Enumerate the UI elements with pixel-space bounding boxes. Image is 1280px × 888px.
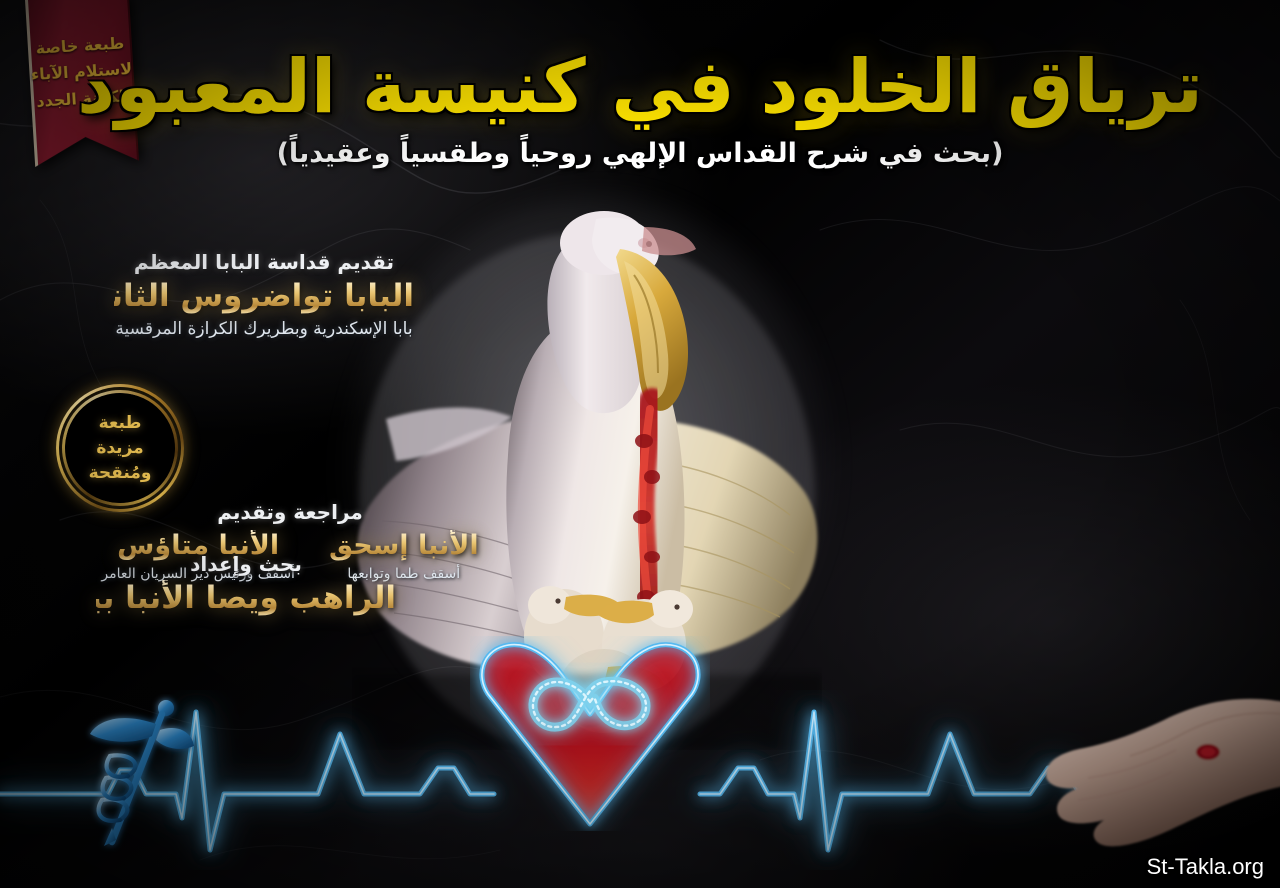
seal-text: طبعة مزيدة ومُنقحة — [56, 384, 184, 512]
title-block: ترياق الخلود في كنيسة المعبود (بحث في شر… — [0, 48, 1280, 169]
open-wounded-hand — [1022, 682, 1280, 862]
caduceus-icon — [82, 694, 198, 854]
page-title: ترياق الخلود في كنيسة المعبود — [0, 48, 1280, 128]
pope-name: البابا تواضروس الثاني — [114, 278, 414, 314]
seal-line-2: مزيدة — [96, 438, 143, 458]
seal-line-3: ومُنقحة — [89, 463, 152, 483]
seal-line-1: طبعة — [99, 413, 142, 433]
page-subtitle: (بحث في شرح القداس الإلهي روحياً وطقسياً… — [0, 138, 1280, 169]
author-name: الراهب ويصا الأنبا بيشوي — [96, 580, 396, 616]
pope-label: تقديم قداسة البابا المعظم — [114, 250, 414, 274]
reviewers-label: مراجعة وتقديم — [90, 500, 490, 524]
credit-author: بحث وإعداد الراهب ويصا الأنبا بيشوي — [96, 552, 396, 616]
credit-pope: تقديم قداسة البابا المعظم البابا تواضروس… — [114, 250, 414, 339]
revised-edition-seal: طبعة مزيدة ومُنقحة — [56, 384, 184, 512]
book-cover: طبعة خاصة لاستلام الآباء الكهنة الجدد تر… — [0, 0, 1280, 888]
watermark: St-Takla.org — [1147, 854, 1264, 880]
glowing-heart-with-infinity — [470, 636, 710, 831]
author-label: بحث وإعداد — [96, 552, 396, 576]
pope-role: بابا الإسكندرية وبطريرك الكرازة المرقسية — [114, 319, 414, 339]
